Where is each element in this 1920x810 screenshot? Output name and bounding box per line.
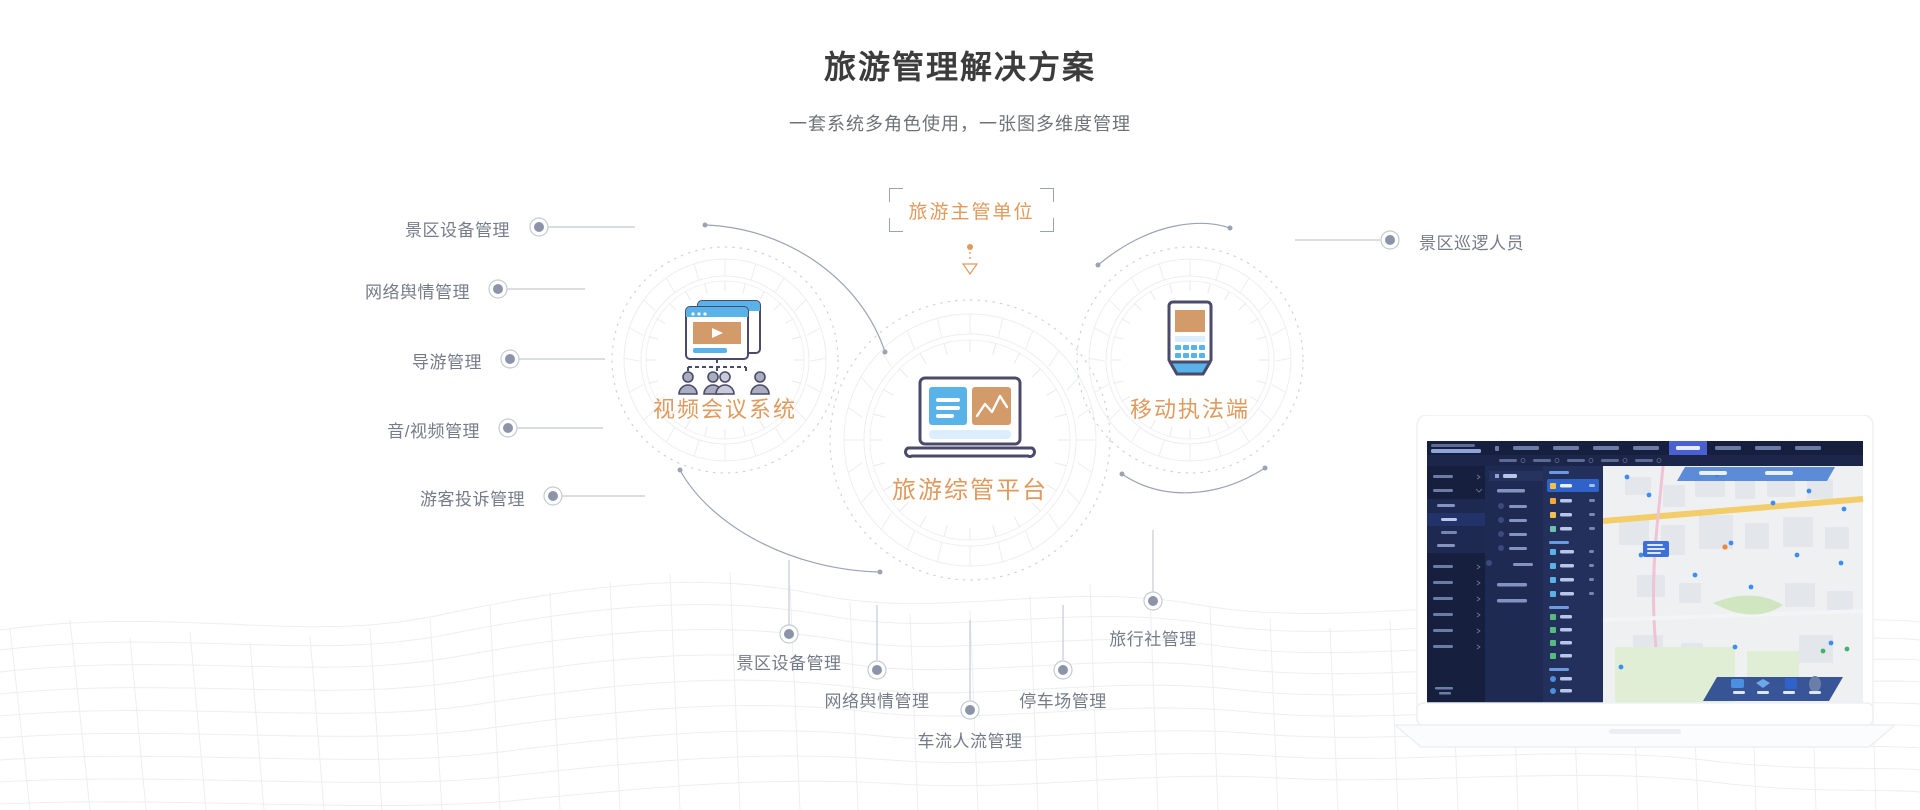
corner-bracket-top-right bbox=[1040, 188, 1054, 202]
corner-bracket-bottom-right bbox=[1040, 218, 1054, 232]
node-label-bottom-2: 车流人流管理 bbox=[870, 727, 1070, 752]
node-label-bottom-4: 旅行社管理 bbox=[1053, 625, 1253, 650]
ring-caption-tourism-platform: 旅游综管平台 bbox=[870, 470, 1070, 505]
laptop-dashboard-icon bbox=[900, 374, 1040, 464]
corner-bracket-top-left bbox=[889, 188, 903, 202]
node-label-bottom-3: 停车场管理 bbox=[963, 687, 1163, 712]
header: 旅游管理解决方案 一套系统多角色使用，一张图多维度管理 bbox=[0, 0, 1920, 136]
node-label-left-0: 景区设备管理 bbox=[200, 216, 510, 241]
video-window-icon bbox=[672, 295, 778, 375]
ring-caption-mobile-enforcement: 移动执法端 bbox=[1090, 392, 1290, 424]
authority-box: 旅游主管单位 bbox=[889, 188, 1054, 232]
node-label-right-0: 景区巡逻人员 bbox=[1419, 229, 1524, 254]
node-label-left-4: 游客投诉管理 bbox=[215, 485, 525, 510]
page-title: 旅游管理解决方案 bbox=[0, 42, 1920, 88]
node-label-left-1: 网络舆情管理 bbox=[160, 278, 470, 303]
laptop-product-mockup bbox=[1395, 415, 1895, 785]
right-connectors bbox=[1295, 231, 1399, 249]
node-label-bottom-1: 网络舆情管理 bbox=[777, 687, 977, 712]
ring-caption-video-conference: 视频会议系统 bbox=[625, 392, 825, 424]
node-label-bottom-0: 景区设备管理 bbox=[689, 649, 889, 674]
handheld-device-icon bbox=[1157, 300, 1223, 386]
page-subtitle: 一套系统多角色使用，一张图多维度管理 bbox=[0, 110, 1920, 136]
authority-label: 旅游主管单位 bbox=[908, 197, 1034, 224]
corner-bracket-bottom-left bbox=[889, 218, 903, 232]
left-connectors bbox=[489, 218, 645, 505]
node-label-left-3: 音/视频管理 bbox=[170, 417, 480, 442]
node-label-left-2: 导游管理 bbox=[172, 348, 482, 373]
authority-connector bbox=[963, 244, 977, 274]
